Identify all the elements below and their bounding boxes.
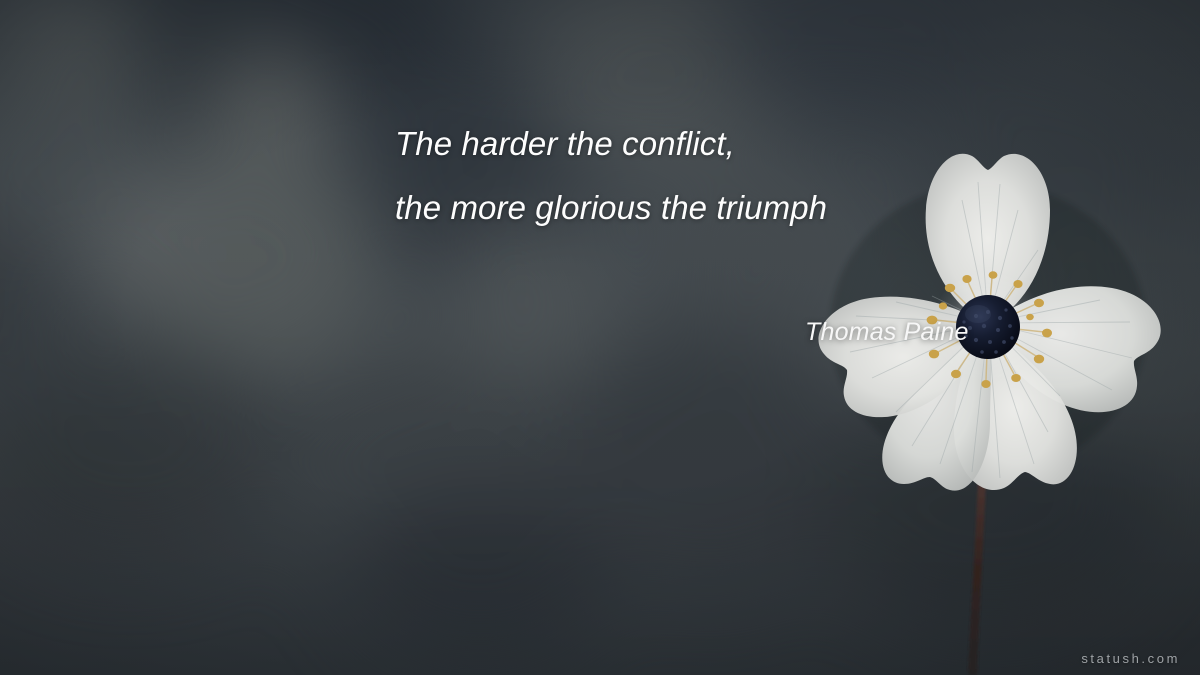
quote-card: The harder the conflict, the more glorio… xyxy=(0,0,1200,675)
quote-author: Thomas Paine xyxy=(805,318,969,347)
site-watermark: statush.com xyxy=(1081,651,1180,666)
quote-line-1: The harder the conflict, xyxy=(395,112,955,176)
quote-line-2: the more glorious the triumph xyxy=(395,176,955,240)
quote-text: The harder the conflict, the more glorio… xyxy=(395,112,955,240)
background-grain xyxy=(0,0,1200,675)
